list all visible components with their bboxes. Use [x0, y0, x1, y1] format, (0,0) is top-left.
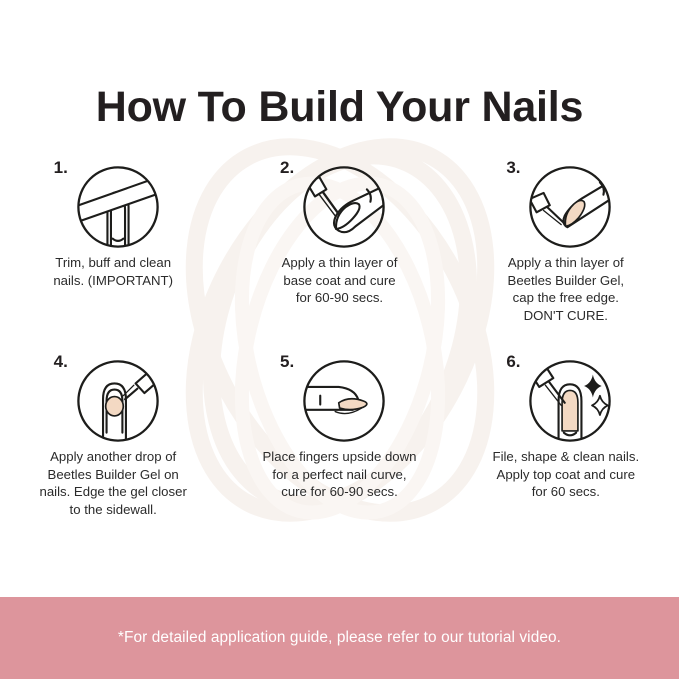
step-4-caption: Apply another drop of Beetles Builder Ge…	[39, 448, 186, 518]
nail-file-over-finger-icon	[74, 163, 162, 251]
file-shape-sparkle-icon	[526, 357, 614, 445]
steps-grid: 1.	[0, 150, 679, 518]
step-5-header: 5.	[272, 344, 407, 444]
finger-upside-down-icon	[300, 357, 388, 445]
how-to-build-your-nails-infographic: How To Build Your Nails 1.	[0, 0, 679, 679]
gel-drop-on-nail-icon	[74, 357, 162, 445]
step-5-number: 5.	[280, 352, 294, 372]
step-1-caption: Trim, buff and clean nails. (IMPORTANT)	[53, 254, 173, 289]
step-1-number: 1.	[54, 158, 68, 178]
step-item-3: 3.	[453, 150, 679, 324]
footer-note: *For detailed application guide, please …	[118, 628, 561, 648]
step-4-number: 4.	[54, 352, 68, 372]
step-6-caption: File, shape & clean nails. Apply top coa…	[493, 448, 640, 501]
step-item-6: 6.	[453, 342, 679, 518]
brush-on-nail-icon	[300, 163, 388, 251]
step-3-number: 3.	[506, 158, 520, 178]
page-title: How To Build Your Nails	[0, 81, 679, 133]
step-5-caption: Place fingers upside down for a perfect …	[263, 448, 417, 501]
step-2-header: 2.	[272, 150, 407, 250]
step-item-2: 2.	[226, 150, 452, 324]
step-3-caption: Apply a thin layer of Beetles Builder Ge…	[508, 254, 625, 324]
step-2-caption: Apply a thin layer of base coat and cure…	[282, 254, 398, 307]
footer-banner: *For detailed application guide, please …	[0, 597, 679, 679]
step-6-header: 6.	[498, 344, 633, 444]
step-item-5: 5.	[226, 342, 452, 518]
step-4-header: 4.	[46, 344, 181, 444]
step-1-header: 1.	[46, 150, 181, 250]
brush-capping-free-edge-icon	[526, 163, 614, 251]
step-3-header: 3.	[498, 150, 633, 250]
step-item-1: 1.	[0, 150, 226, 324]
step-item-4: 4.	[0, 342, 226, 518]
step-2-number: 2.	[280, 158, 294, 178]
step-6-number: 6.	[506, 352, 520, 372]
